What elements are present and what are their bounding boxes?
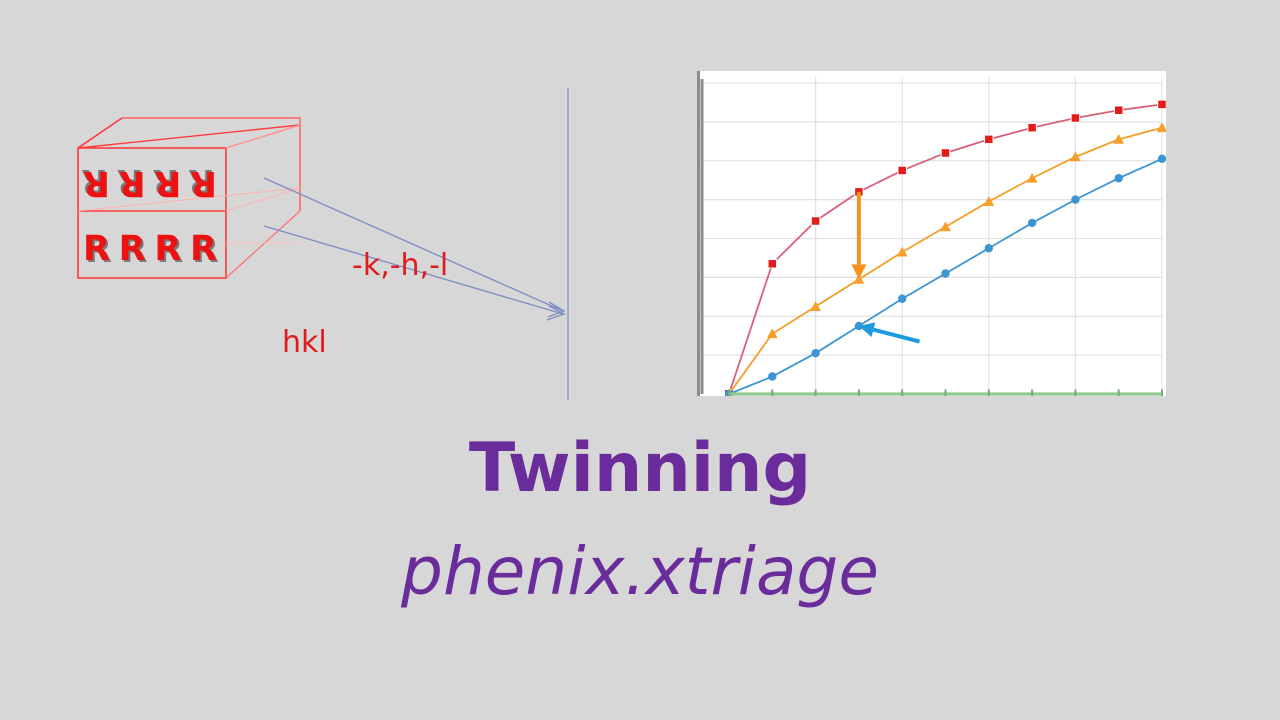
marker-square (941, 149, 950, 158)
twin-domain-letters-inverted: R R R R (83, 163, 217, 203)
page-title: Twinning (0, 430, 1280, 508)
letter-r: R (190, 166, 217, 201)
marker-circle (1028, 219, 1036, 227)
marker-square (1114, 106, 1123, 115)
marker-circle (1115, 174, 1123, 182)
label-twin-reflection: -k,-h,-l (352, 248, 448, 283)
intensity-plot-svg (700, 71, 1166, 396)
marker-circle (1071, 195, 1079, 203)
marker-circle (898, 295, 906, 303)
marker-circle (768, 372, 776, 380)
marker-square (985, 135, 994, 144)
marker-square (898, 166, 907, 175)
marker-square (768, 260, 777, 269)
intensity-plot (697, 71, 1163, 396)
letter-r: R (83, 166, 110, 201)
marker-circle (941, 269, 949, 277)
marker-circle (985, 244, 993, 252)
label-original-reflection: hkl (282, 325, 327, 360)
twin-crystal-diagram: R R R R R R R R -k,-h,-l hkl (60, 80, 620, 410)
letter-r: R (119, 166, 146, 201)
page-subtitle: phenix.xtriage (0, 532, 1280, 612)
slide-canvas: R R R R R R R R -k,-h,-l hkl Twinning ph… (0, 0, 1280, 720)
letter-r: R (190, 232, 217, 267)
letter-r: R (154, 232, 181, 267)
marker-circle (1158, 155, 1166, 163)
marker-square (1028, 123, 1037, 132)
letter-r: R (154, 166, 181, 201)
marker-circle (811, 349, 819, 357)
twin-domain-letters-normal: R R R R (83, 228, 217, 270)
marker-square (811, 217, 820, 226)
marker-square (1071, 114, 1080, 123)
marker-square (1158, 100, 1166, 109)
letter-r: R (119, 232, 146, 267)
letter-r: R (83, 232, 110, 267)
